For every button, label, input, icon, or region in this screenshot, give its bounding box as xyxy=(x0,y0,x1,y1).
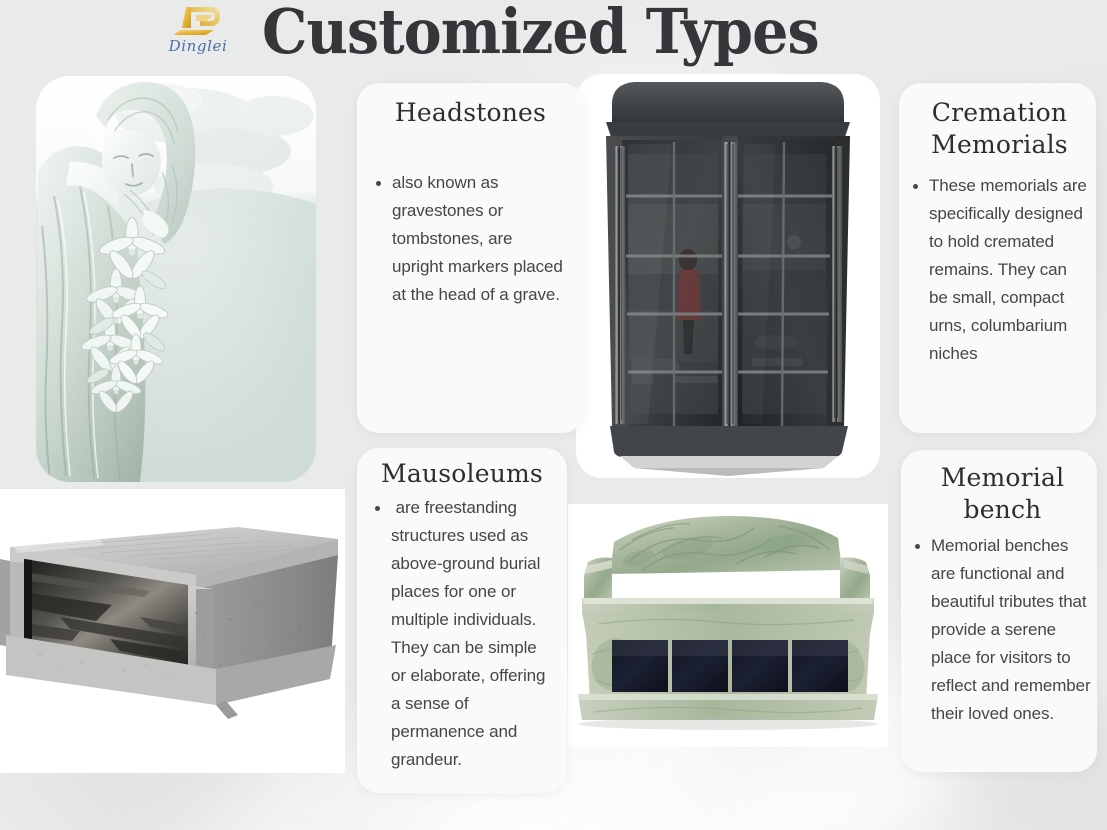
card-cremation-memorials-bullets: These memorials are specifically designe… xyxy=(912,172,1087,368)
card-memorial-bench-bullets: Memorial benches are functional and beau… xyxy=(914,532,1091,728)
list-item: Memorial benches are functional and beau… xyxy=(914,532,1091,728)
card-cremation-memorials: Cremation Memorials These memorials are … xyxy=(899,83,1096,433)
headstone-angel-photo xyxy=(36,76,316,482)
card-mausoleums: Mausoleums are freestanding structures u… xyxy=(357,448,567,793)
list-item: These memorials are specifically designe… xyxy=(912,172,1087,368)
brand-logo: Dinglei xyxy=(148,4,248,60)
mausoleum-photo xyxy=(0,489,345,773)
card-cremation-memorials-title: Cremation Memorials xyxy=(912,97,1087,161)
card-mausoleums-title: Mausoleums xyxy=(373,458,551,490)
card-headstones-bullets: also known as gravestones or tombstones,… xyxy=(373,169,568,309)
brand-wordmark: Dinglei xyxy=(148,37,248,55)
dinglei-logo-mark-icon xyxy=(170,4,226,38)
card-memorial-bench-title: Memorial bench xyxy=(914,462,1091,526)
card-headstones-title: Headstones xyxy=(373,97,568,129)
list-item: are freestanding structures used as abov… xyxy=(373,494,551,774)
card-memorial-bench: Memorial bench Memorial benches are func… xyxy=(901,450,1097,772)
card-headstones: Headstones also known as gravestones or … xyxy=(357,83,584,433)
list-item: also known as gravestones or tombstones,… xyxy=(373,169,568,309)
memorial-bench-photo xyxy=(568,504,888,747)
columbarium-photo xyxy=(576,74,880,478)
page-title: Customized Types xyxy=(262,0,796,68)
card-mausoleums-bullets: are freestanding structures used as abov… xyxy=(373,494,551,774)
